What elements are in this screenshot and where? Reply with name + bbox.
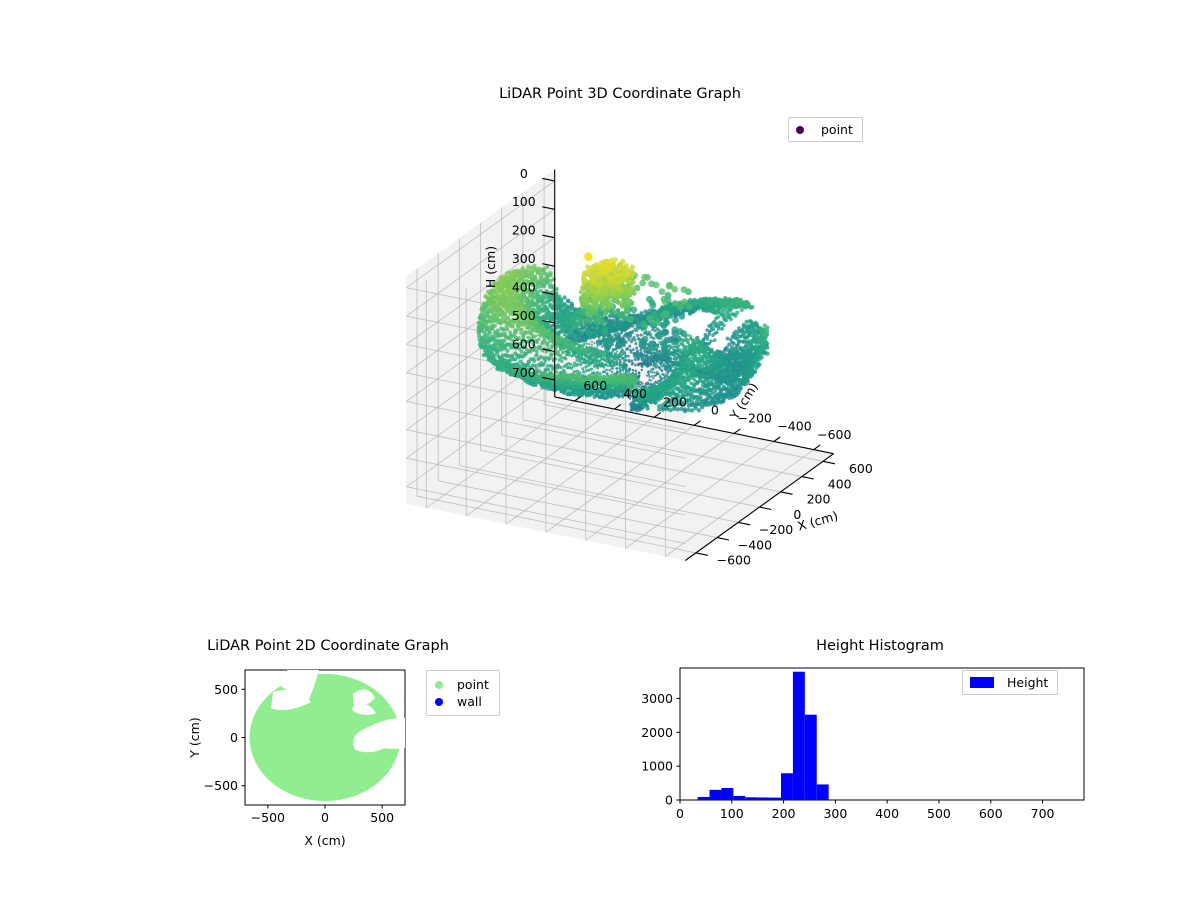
histogram-canvas: 01002003004005006007000100020003000 bbox=[600, 630, 1120, 880]
figure-canvas: LiDAR Point 3D Coordinate Graph −600−400… bbox=[0, 0, 1200, 900]
legend-marker-point-3d bbox=[796, 126, 804, 134]
legend-label-wall-2d: wall bbox=[457, 694, 482, 709]
plot3d-canvas: −600−400−2000200400600−600−400−200020040… bbox=[300, 60, 940, 630]
legend-entry-point-2d: point bbox=[435, 676, 489, 693]
legend-marker-point-2d bbox=[435, 681, 443, 689]
lidar-2d-panel: LiDAR Point 2D Coordinate Graph −5000500… bbox=[150, 630, 570, 880]
legend-marker-height bbox=[970, 677, 994, 688]
plot3d-legend[interactable]: point bbox=[788, 117, 863, 142]
legend-marker-wall-2d bbox=[435, 698, 443, 706]
legend-label-point-2d: point bbox=[457, 677, 489, 692]
plot2d-legend[interactable]: point wall bbox=[426, 670, 500, 716]
lidar-3d-panel: LiDAR Point 3D Coordinate Graph −600−400… bbox=[300, 60, 940, 630]
legend-entry-wall-2d: wall bbox=[435, 693, 489, 710]
legend-label-height: Height bbox=[1007, 675, 1048, 690]
legend-label-point-3d: point bbox=[821, 122, 853, 137]
height-histogram-panel: Height Histogram 01002003004005006007000… bbox=[600, 630, 1120, 880]
plot2d-canvas: −5000500−5000500X (cm)Y (cm) bbox=[150, 630, 570, 880]
histogram-legend[interactable]: Height bbox=[962, 670, 1058, 695]
